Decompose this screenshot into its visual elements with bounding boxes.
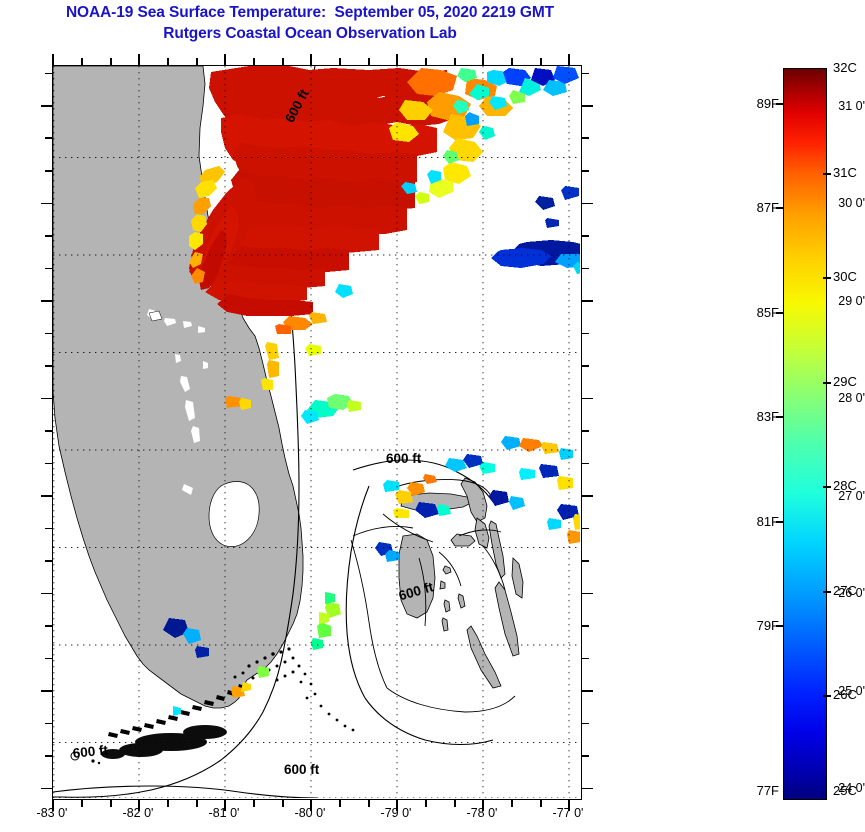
- colorbar-tick-right: [823, 277, 831, 279]
- y-tick-right-major: [582, 398, 593, 400]
- y-tick-right-major: [582, 788, 593, 790]
- colorbar-tick-left: [776, 103, 784, 105]
- y-tick-right-minor: [582, 723, 589, 725]
- y-tick-right-major: [582, 203, 593, 205]
- y-tick-right-major: [582, 300, 593, 302]
- y-tick-minor: [45, 723, 52, 725]
- x-tick-top-minor: [253, 58, 255, 65]
- y-tick-right-major: [582, 495, 593, 497]
- colorbar-gradient: [783, 68, 827, 800]
- sst-map-figure: NOAA-19 Sea Surface Temperature: Septemb…: [0, 0, 865, 832]
- y-tick-minor: [45, 755, 52, 757]
- y-tick-right-minor: [582, 137, 589, 139]
- y-tick-right-major: [582, 593, 593, 595]
- y-tick-major: [41, 398, 52, 400]
- x-tick-top-major: [224, 54, 226, 65]
- title-line-2: Rutgers Coastal Ocean Observation Lab: [0, 23, 620, 44]
- x-tick-top-minor: [425, 58, 427, 65]
- x-tick-top-minor: [454, 58, 456, 65]
- x-tick-top-major: [396, 54, 398, 65]
- y-tick-minor: [45, 235, 52, 237]
- y-tick-minor: [45, 658, 52, 660]
- x-tick-top-minor: [196, 58, 198, 65]
- colorbar-tick-right: [823, 591, 831, 593]
- y-tick-major: [41, 690, 52, 692]
- colorbar-label-25C: 25C: [833, 783, 857, 798]
- colorbar-tick-left: [776, 312, 784, 314]
- colorbar-label-29C: 29C: [833, 374, 857, 389]
- colorbar-label-32C: 32C: [833, 60, 857, 75]
- x-tick-top-minor: [110, 58, 112, 65]
- colorbar-tick-right: [823, 382, 831, 384]
- y-tick-right-minor: [582, 560, 589, 562]
- y-tick-right-minor: [582, 463, 589, 465]
- temperature-colorbar[interactable]: 89F 87F 85F 83F 81F 79F 77F 32C 31C 30C …: [783, 68, 827, 800]
- y-tick-right-minor: [582, 365, 589, 367]
- x-tick-major: [310, 800, 312, 811]
- y-tick-major: [41, 300, 52, 302]
- x-tick-top-minor: [368, 58, 370, 65]
- y-tick-right-minor: [582, 333, 589, 335]
- x-tick-top-minor: [540, 58, 542, 65]
- map-canvas: [53, 66, 580, 798]
- y-tick-right-minor: [582, 528, 589, 530]
- y-tick-major: [41, 593, 52, 595]
- x-tick-minor: [454, 800, 456, 807]
- y-tick-right-major: [582, 690, 593, 692]
- x-tick-minor: [339, 800, 341, 807]
- x-tick-top-major: [568, 54, 570, 65]
- x-tick-top-major: [138, 54, 140, 65]
- contour-label-600ft-south: 600 ft: [284, 762, 319, 777]
- colorbar-label-27C: 27C: [833, 583, 857, 598]
- x-tick-minor: [167, 800, 169, 807]
- figure-title: NOAA-19 Sea Surface Temperature: Septemb…: [0, 2, 620, 44]
- x-tick-major: [224, 800, 226, 811]
- y-tick-right-minor: [582, 73, 589, 75]
- colorbar-tick-left: [776, 207, 784, 209]
- title-line-1: NOAA-19 Sea Surface Temperature: Septemb…: [0, 2, 620, 23]
- x-tick-major: [482, 800, 484, 811]
- x-tick-top-minor: [511, 58, 513, 65]
- map-plot-area[interactable]: 600 ft 600 ft 600 ft 600 ft 600 ft: [52, 65, 582, 800]
- y-tick-minor: [45, 333, 52, 335]
- x-tick-minor: [368, 800, 370, 807]
- colorbar-label-30C: 30C: [833, 269, 857, 284]
- y-tick-minor: [45, 560, 52, 562]
- colorbar-tick-left: [776, 625, 784, 627]
- y-tick-right-minor: [582, 235, 589, 237]
- colorbar-label-31C: 31C: [833, 165, 857, 180]
- y-tick-major: [41, 105, 52, 107]
- y-tick-right-minor: [582, 170, 589, 172]
- x-tick-major: [396, 800, 398, 811]
- x-tick-minor: [282, 800, 284, 807]
- y-tick-right-minor: [582, 430, 589, 432]
- contour-label-600ft-bahamas-north: 600 ft: [386, 451, 421, 466]
- y-tick-major: [41, 788, 52, 790]
- x-tick-minor: [511, 800, 513, 807]
- x-tick-minor: [425, 800, 427, 807]
- x-tick-major: [138, 800, 140, 811]
- y-tick-minor: [45, 365, 52, 367]
- colorbar-label-77F: 77F: [757, 783, 779, 798]
- y-tick-minor: [45, 463, 52, 465]
- y-tick-minor: [45, 528, 52, 530]
- x-tick-top-major: [482, 54, 484, 65]
- y-tick-right-minor: [582, 755, 589, 757]
- y-tick-right-minor: [582, 658, 589, 660]
- y-tick-minor: [45, 430, 52, 432]
- colorbar-tick-right: [823, 173, 831, 175]
- x-tick-top-major: [52, 54, 54, 65]
- x-tick-minor: [253, 800, 255, 807]
- y-tick-minor: [45, 625, 52, 627]
- x-tick-top-major: [310, 54, 312, 65]
- y-tick-right-major: [582, 105, 593, 107]
- x-tick-top-minor: [167, 58, 169, 65]
- x-tick-top-minor: [81, 58, 83, 65]
- y-tick-major: [41, 203, 52, 205]
- y-tick-minor: [45, 137, 52, 139]
- y-tick-minor: [45, 170, 52, 172]
- colorbar-tick-left: [776, 521, 784, 523]
- colorbar-tick-left: [776, 416, 784, 418]
- x-tick-major: [52, 800, 54, 811]
- y-tick-right-minor: [582, 625, 589, 627]
- x-tick-major: [568, 800, 570, 811]
- x-tick-minor: [540, 800, 542, 807]
- colorbar-tick-right: [823, 695, 831, 697]
- colorbar-tick-right: [823, 486, 831, 488]
- x-tick-minor: [81, 800, 83, 807]
- x-tick-minor: [196, 800, 198, 807]
- y-tick-minor: [45, 73, 52, 75]
- y-tick-right-minor: [582, 268, 589, 270]
- x-tick-minor: [110, 800, 112, 807]
- y-tick-major: [41, 495, 52, 497]
- x-tick-top-minor: [282, 58, 284, 65]
- colorbar-label-26C: 26C: [833, 687, 857, 702]
- colorbar-label-28C: 28C: [833, 478, 857, 493]
- x-tick-top-minor: [339, 58, 341, 65]
- y-tick-minor: [45, 268, 52, 270]
